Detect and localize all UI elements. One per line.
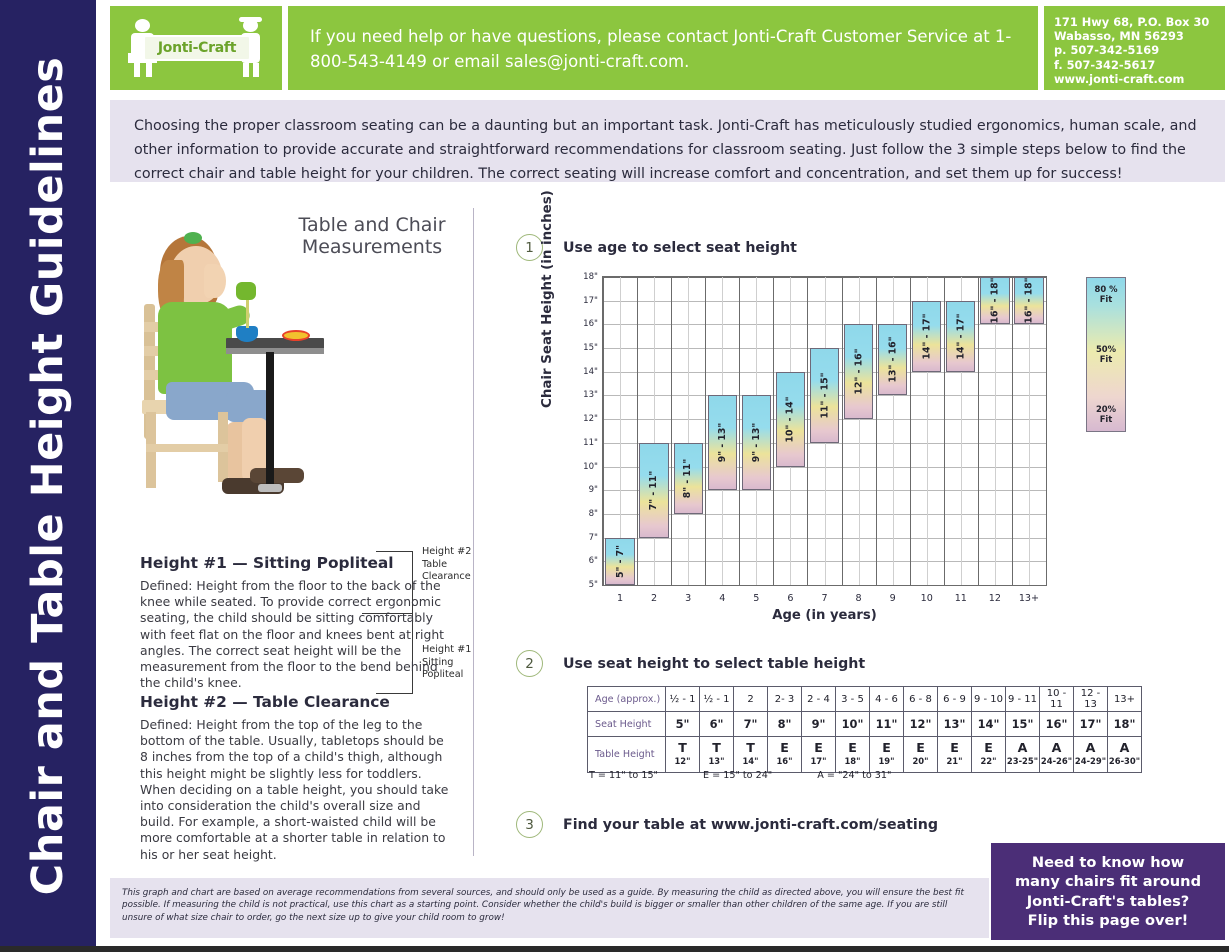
- logo-girl-leg-left-icon: [134, 63, 140, 77]
- table-height-value: 24-26": [1040, 755, 1073, 768]
- yellow-toy-icon: [284, 332, 308, 339]
- table-cell-age: 12 - 13: [1074, 687, 1108, 712]
- chart-bar-label: 7" - 11": [649, 471, 660, 510]
- table-cell-seat-height: 14": [972, 712, 1006, 737]
- row-label-seat-height: Seat Height: [588, 712, 666, 737]
- table-height-value: 17": [802, 755, 835, 768]
- brand-logo: Jonti-Craft: [110, 6, 282, 90]
- logo-wordmark: Jonti-Craft: [143, 35, 251, 61]
- chart-gridline-v-minor: [893, 277, 894, 585]
- chart-gridline-v: [603, 277, 604, 585]
- chart-x-tick: 2: [651, 593, 657, 604]
- chart-x-tick: 10: [921, 593, 933, 604]
- step-2-label: Use seat height to select table height: [563, 656, 865, 672]
- table-cell-age: 13+: [1108, 687, 1142, 712]
- chart-y-tick: 10": [583, 462, 598, 472]
- step-2: 2 Use seat height to select table height: [516, 650, 865, 677]
- fax-line: f. 507-342-5617: [1054, 58, 1225, 72]
- chart-x-tick: 3: [685, 593, 691, 604]
- legend-entry-80: 80 % Fit: [1087, 284, 1125, 304]
- header: Jonti-Craft If you need help or have que…: [110, 6, 1225, 90]
- chart-gridline-v: [739, 277, 740, 585]
- chart-bar-label: 10" - 14": [785, 396, 796, 442]
- chart-x-tick: 9: [890, 593, 896, 604]
- customer-service-message: If you need help or have questions, plea…: [288, 6, 1038, 90]
- table-cell-table-height: E19": [870, 737, 904, 773]
- table-cell-seat-height: 12": [904, 712, 938, 737]
- table-cell-age: 9 - 10: [972, 687, 1006, 712]
- chart-gridline-v: [773, 277, 774, 585]
- green-toy-icon: [236, 282, 256, 300]
- child-face-icon: [204, 264, 226, 298]
- table-cell-seat-height: 11": [870, 712, 904, 737]
- legend-20-value: 20%: [1087, 404, 1125, 414]
- note-code-t: T = 11" to 15": [589, 770, 658, 781]
- child-shoe-front-icon: [250, 468, 304, 483]
- table-cell-age: 2 - 4: [802, 687, 836, 712]
- chart-bar: 9" - 13": [742, 395, 771, 490]
- table-cell-age: ½ - 1: [700, 687, 734, 712]
- step-3: 3 Find your table at www.jonti-craft.com…: [516, 811, 938, 838]
- table-height-value: 13": [700, 755, 733, 768]
- table-height-code: E: [972, 741, 1005, 754]
- chart-gridline-h: [603, 585, 1046, 586]
- table-cell-age: 6 - 8: [904, 687, 938, 712]
- chart-y-tick: 12": [583, 414, 598, 424]
- table-height-value: 19": [870, 755, 903, 768]
- definition-block-height-2: Height #2 — Table Clearance Defined: Hei…: [140, 693, 452, 863]
- table-height-code-note: T = 11" to 15" E = 15" to 24" A = "24" t…: [589, 770, 891, 781]
- table-height-code: E: [904, 741, 937, 754]
- chart-bar: 7" - 11": [639, 443, 668, 538]
- address-line-1: 171 Hwy 68, P.O. Box 30: [1054, 15, 1225, 29]
- chart-y-tick: 5": [589, 580, 598, 590]
- chart-y-tick: 8": [589, 509, 598, 519]
- chart-bar-label: 8" - 11": [683, 459, 694, 498]
- table-cell-seat-height: 13": [938, 712, 972, 737]
- step-1-number: 1: [516, 234, 543, 261]
- seat-height-chart: Chair Seat Height (in inches) 5"6"7"8"9"…: [552, 268, 1072, 628]
- chart-gridline-v: [842, 277, 843, 585]
- chart-bar: 12" - 16": [844, 324, 873, 419]
- chart-x-tick: 7: [821, 593, 827, 604]
- chart-bar: 13" - 16": [878, 324, 907, 395]
- blue-toy-icon: [236, 326, 258, 342]
- chart-bar-label: 12" - 16": [853, 349, 864, 395]
- table-cell-table-height: E22": [972, 737, 1006, 773]
- toy-string-icon: [246, 298, 249, 328]
- logo-boy-head-icon: [243, 19, 258, 32]
- chart-plot-area: 5"6"7"8"9"10"11"12"13"14"15"16"17"18"123…: [602, 276, 1047, 586]
- chart-y-tick: 7": [589, 533, 598, 543]
- table-cell-seat-height: 17": [1074, 712, 1108, 737]
- row-label-table-height: Table Height: [588, 737, 666, 773]
- legend-entry-20: 20% Fit: [1087, 404, 1125, 424]
- chart-gridline-v-minor: [859, 277, 860, 585]
- table-cell-table-height: A23-25": [1006, 737, 1040, 773]
- table-height-value: 14": [734, 755, 767, 768]
- chart-y-tick: 6": [589, 556, 598, 566]
- table-cell-table-height: T12": [666, 737, 700, 773]
- chart-bar-label: 9" - 13": [717, 423, 728, 462]
- table-cell-table-height: E20": [904, 737, 938, 773]
- step-3-number: 3: [516, 811, 543, 838]
- intro-paragraph: Choosing the proper classroom seating ca…: [110, 100, 1225, 182]
- chart-bar: 10" - 14": [776, 372, 805, 467]
- table-cell-table-height: E21": [938, 737, 972, 773]
- chart-bar-label: 16" - 18": [989, 278, 1000, 324]
- step-3-label[interactable]: Find your table at www.jonti-craft.com/s…: [563, 817, 938, 833]
- flip-line-2: many chairs fit around: [1015, 872, 1201, 892]
- chart-bar: 9" - 13": [708, 395, 737, 490]
- chart-gridline-v: [1046, 277, 1047, 585]
- column-divider: [473, 208, 474, 856]
- seat-to-table-height-table: Age (approx.) ½ - 1½ - 122- 32 - 43 - 54…: [587, 686, 1142, 773]
- table-height-value: 26-30": [1108, 755, 1141, 768]
- table-height-value: 12": [666, 755, 699, 768]
- definition-2-text: Defined: Height from the top of the leg …: [140, 717, 452, 863]
- chart-fit-legend: 80 % Fit 50% Fit 20% Fit: [1086, 277, 1126, 432]
- chart-y-tick: 14": [583, 367, 598, 377]
- table-cell-seat-height: 8": [768, 712, 802, 737]
- step-1-label: Use age to select seat height: [563, 240, 797, 256]
- definition-1-heading: Height #1 — Sitting Popliteal: [140, 554, 452, 572]
- chart-bar-label: 9" - 13": [751, 423, 762, 462]
- table-row-age: Age (approx.) ½ - 1½ - 122- 32 - 43 - 54…: [588, 687, 1142, 712]
- chart-bar: 5" - 7": [605, 538, 634, 585]
- child-seated-illustration: [130, 222, 325, 512]
- table-cell-table-height: T13": [700, 737, 734, 773]
- table-height-code: T: [700, 741, 733, 754]
- flip-page-callout: Need to know how many chairs fit around …: [991, 843, 1225, 940]
- chart-bar-label: 13" - 16": [887, 337, 898, 383]
- step-1: 1 Use age to select seat height: [516, 234, 797, 261]
- table-height-value: 18": [836, 755, 869, 768]
- logo-boy-leg-left-icon: [243, 63, 249, 77]
- table-cell-seat-height: 10": [836, 712, 870, 737]
- chart-gridline-v: [978, 277, 979, 585]
- chair-stretcher-icon: [146, 444, 228, 452]
- chart-gridline-v: [671, 277, 672, 585]
- logo-girl-leg-right-icon: [146, 63, 152, 77]
- chart-y-tick: 16": [583, 319, 598, 329]
- table-height-code: A: [1006, 741, 1039, 754]
- chart-gridline-v: [876, 277, 877, 585]
- chart-y-tick: 17": [583, 296, 598, 306]
- chart-gridline-v: [705, 277, 706, 585]
- chart-bar-label: 14" - 17": [921, 313, 932, 359]
- table-cell-age: 3 - 5: [836, 687, 870, 712]
- table-cell-seat-height: 6": [700, 712, 734, 737]
- table-leg-icon: [266, 352, 274, 492]
- chart-gridline-v-minor: [654, 277, 655, 585]
- chart-x-tick: 12: [989, 593, 1001, 604]
- step-2-number: 2: [516, 650, 543, 677]
- chart-y-tick: 18": [583, 272, 598, 282]
- table-cell-age: 2: [734, 687, 768, 712]
- chart-x-tick: 5: [753, 593, 759, 604]
- table-row-seat-height: Seat Height 5"6"7"8"9"10"11"12"13"14"15"…: [588, 712, 1142, 737]
- table-cell-seat-height: 9": [802, 712, 836, 737]
- table-row-table-height: Table Height T12"T13"T14"E16"E17"E18"E19…: [588, 737, 1142, 773]
- chart-y-tick: 13": [583, 390, 598, 400]
- table-height-value: 24-29": [1074, 755, 1107, 768]
- table-cell-age: 4 - 6: [870, 687, 904, 712]
- chart-bar: 14" - 17": [946, 301, 975, 372]
- chart-x-tick: 4: [719, 593, 725, 604]
- table-height-code: E: [938, 741, 971, 754]
- table-cell-seat-height: 7": [734, 712, 768, 737]
- table-cell-age: 2- 3: [768, 687, 802, 712]
- disclaimer-text: This graph and chart are based on averag…: [110, 878, 989, 938]
- legend-80-value: 80 %: [1087, 284, 1125, 294]
- table-height-code: T: [734, 741, 767, 754]
- page-title: Chair and Table Height Guidelines: [23, 57, 73, 896]
- chart-gridline-v: [807, 277, 808, 585]
- table-height-code: E: [870, 741, 903, 754]
- table-foot-icon: [258, 484, 282, 492]
- chart-x-axis-label: Age (in years): [602, 608, 1047, 623]
- legend-20-label: Fit: [1087, 414, 1125, 424]
- table-cell-table-height: A26-30": [1108, 737, 1142, 773]
- page-root: Chair and Table Height Guidelines Jonti-…: [0, 0, 1229, 952]
- website-link[interactable]: www.jonti-craft.com: [1054, 72, 1225, 86]
- chart-x-tick: 8: [856, 593, 862, 604]
- table-height-value: 23-25": [1006, 755, 1039, 768]
- table-height-value: 16": [768, 755, 801, 768]
- chart-bar-label: 11" - 15": [819, 372, 830, 418]
- child-hair-bow-icon: [184, 232, 202, 244]
- logo-boy-leg-right-icon: [253, 63, 259, 77]
- chart-x-tick: 11: [955, 593, 967, 604]
- table-cell-seat-height: 16": [1040, 712, 1074, 737]
- table-cell-table-height: A24-26": [1040, 737, 1074, 773]
- chart-bar: 16" - 18": [1014, 277, 1043, 324]
- address-line-2: Wabasso, MN 56293: [1054, 29, 1225, 43]
- table-cell-table-height: A24-29": [1074, 737, 1108, 773]
- chart-bar-label: 5" - 7": [615, 545, 626, 578]
- table-cell-table-height: E18": [836, 737, 870, 773]
- chart-gridline-v: [910, 277, 911, 585]
- chart-y-axis-label: Chair Seat Height (in inches): [540, 190, 555, 408]
- definition-2-heading: Height #2 — Table Clearance: [140, 693, 452, 711]
- sidebar-title-bar: Chair and Table Height Guidelines: [0, 0, 96, 952]
- legend-entry-50: 50% Fit: [1087, 344, 1125, 364]
- legend-80-label: Fit: [1087, 294, 1125, 304]
- left-column: Table and Chair Measurements: [112, 196, 472, 866]
- table-height-code: E: [836, 741, 869, 754]
- callout-line-h2-top: [376, 551, 413, 552]
- legend-50-label: Fit: [1087, 354, 1125, 364]
- flip-line-3: Jonti-Craft's tables?: [1015, 892, 1201, 912]
- table-edge-icon: [226, 348, 324, 354]
- bottom-bar: [0, 946, 1229, 952]
- table-cell-seat-height: 15": [1006, 712, 1040, 737]
- note-code-a: A = "24" to 31": [817, 770, 891, 781]
- table-cell-table-height: T14": [734, 737, 768, 773]
- definition-1-text: Defined: Height from the floor to the ba…: [140, 578, 452, 691]
- logo-girl-head-icon: [135, 19, 150, 32]
- company-address: 171 Hwy 68, P.O. Box 30 Wabasso, MN 5629…: [1044, 6, 1225, 90]
- chart-y-tick: 11": [583, 438, 598, 448]
- definition-block-height-1: Height #1 — Sitting Popliteal Defined: H…: [140, 554, 452, 691]
- table-cell-seat-height: 18": [1108, 712, 1142, 737]
- chart-bar: 8" - 11": [674, 443, 703, 514]
- table-cell-age: 6 - 9: [938, 687, 972, 712]
- table-cell-age: 9 - 11: [1006, 687, 1040, 712]
- flip-line-1: Need to know how: [1015, 853, 1201, 873]
- chart-x-tick: 6: [787, 593, 793, 604]
- chart-y-tick: 9": [589, 485, 598, 495]
- chart-bar: 16" - 18": [980, 277, 1009, 324]
- chart-x-tick: 13+: [1019, 593, 1039, 604]
- chart-y-tick: 15": [583, 343, 598, 353]
- table-height-value: 20": [904, 755, 937, 768]
- table-cell-age: ½ - 1: [666, 687, 700, 712]
- note-code-e: E = 15" to 24": [703, 770, 772, 781]
- chart-bar-label: 14" - 17": [955, 313, 966, 359]
- chart-gridline-v: [637, 277, 638, 585]
- table-cell-table-height: E17": [802, 737, 836, 773]
- table-height-code: T: [666, 741, 699, 754]
- table-height-code: A: [1040, 741, 1073, 754]
- table-cell-age: 10 - 11: [1040, 687, 1074, 712]
- table-height-value: 21": [938, 755, 971, 768]
- chart-bar-label: 16" - 18": [1023, 278, 1034, 324]
- chart-bar: 11" - 15": [810, 348, 839, 443]
- table-cell-table-height: E16": [768, 737, 802, 773]
- chart-x-tick: 1: [617, 593, 623, 604]
- chart-gridline-v: [1012, 277, 1013, 585]
- legend-50-value: 50%: [1087, 344, 1125, 354]
- table-height-code: E: [802, 741, 835, 754]
- table-height-code: A: [1108, 741, 1141, 754]
- row-label-age: Age (approx.): [588, 687, 666, 712]
- flip-line-4: Flip this page over!: [1015, 911, 1201, 931]
- table-cell-seat-height: 5": [666, 712, 700, 737]
- table-height-code: E: [768, 741, 801, 754]
- chart-gridline-v-minor: [688, 277, 689, 585]
- phone-line: p. 507-342-5169: [1054, 43, 1225, 57]
- chart-gridline-v: [944, 277, 945, 585]
- table-height-code: A: [1074, 741, 1107, 754]
- table-height-value: 22": [972, 755, 1005, 768]
- chart-bar: 14" - 17": [912, 301, 941, 372]
